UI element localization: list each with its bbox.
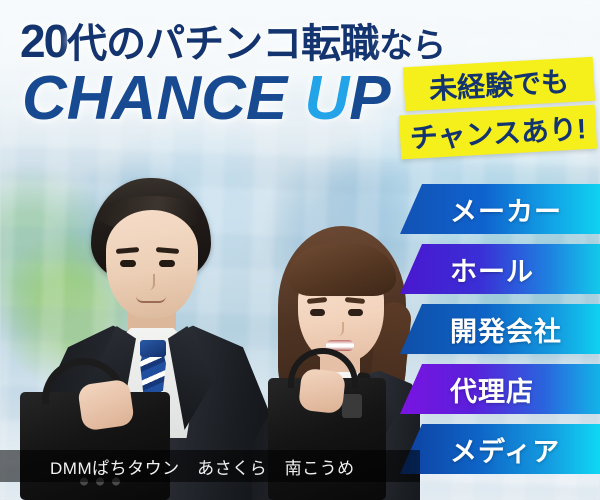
category-label-media: メディア bbox=[450, 430, 560, 469]
category-label-hall: ホール bbox=[450, 250, 534, 289]
category-button-developer[interactable]: 開発会社 bbox=[400, 304, 600, 354]
photo-caption-bar: DMMぱちタウン あさくら 南こうめ bbox=[0, 450, 420, 482]
promo-banner: 20代のパチンコ転職なら CHANCE UP 未経験でも チャンスあり! メーカ… bbox=[0, 0, 600, 500]
photo-caption-text: DMMぱちタウン あさくら 南こうめ bbox=[50, 454, 355, 479]
category-menu: メーカー ホール 開発会社 代理店 メディア bbox=[0, 0, 600, 500]
category-label-agency: 代理店 bbox=[450, 370, 534, 409]
category-button-maker[interactable]: メーカー bbox=[400, 184, 600, 234]
category-label-maker: メーカー bbox=[450, 190, 562, 229]
category-label-developer: 開発会社 bbox=[450, 310, 562, 349]
category-button-agency[interactable]: 代理店 bbox=[400, 364, 600, 414]
category-button-hall[interactable]: ホール bbox=[400, 244, 600, 294]
category-button-media[interactable]: メディア bbox=[400, 424, 600, 474]
